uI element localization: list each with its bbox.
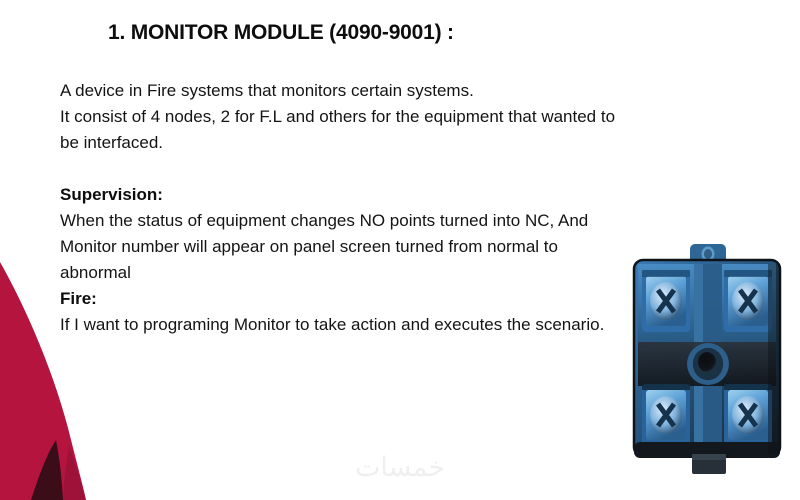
terminal-2-top-lip: [724, 270, 772, 277]
terminal-screw-3: [642, 384, 690, 446]
terminal-screw-4: [724, 384, 772, 446]
supervision-line-2: Monitor number will appear on panel scre…: [60, 234, 640, 260]
slide-canvas: 1. MONITOR MODULE (4090-9001) : A device…: [0, 0, 800, 500]
intro-paragraph: A device in Fire systems that monitors c…: [60, 78, 640, 156]
terminal-4-top-lip: [724, 384, 772, 390]
fire-section: Fire: If I want to programing Monitor to…: [60, 286, 640, 338]
intro-line-3: be interfaced.: [60, 130, 640, 156]
fire-paragraph: If I want to programing Monitor to take …: [60, 312, 640, 338]
fire-heading: Fire:: [60, 286, 640, 312]
intro-line-2: It consist of 4 nodes, 2 for F.L and oth…: [60, 104, 640, 130]
supervision-section: Supervision: When the status of equipmen…: [60, 182, 640, 286]
supervision-line-1: When the status of equipment changes NO …: [60, 208, 640, 234]
intro-line-1: A device in Fire systems that monitors c…: [60, 78, 640, 104]
module-right-shadow: [768, 264, 780, 454]
module-center-hub: [687, 343, 729, 385]
watermark: خمسات: [0, 452, 800, 483]
hub-hole: [698, 352, 716, 372]
slide-body: A device in Fire systems that monitors c…: [60, 78, 640, 338]
paragraph-spacer: [60, 156, 640, 182]
supervision-heading: Supervision:: [60, 182, 640, 208]
fire-line-1: If I want to programing Monitor to take …: [60, 312, 640, 338]
monitor-module-photo: [618, 238, 796, 486]
terminal-screw-2: [724, 270, 772, 332]
supervision-paragraph: When the status of equipment changes NO …: [60, 208, 640, 286]
terminal-3-top-lip: [642, 384, 690, 390]
top-tab-hole-inner: [704, 249, 712, 259]
terminal-screw-1: [642, 270, 690, 332]
page-title: 1. MONITOR MODULE (4090-9001) :: [108, 21, 454, 45]
supervision-line-3: abnormal: [60, 260, 640, 286]
terminal-1-top-lip: [642, 270, 690, 277]
